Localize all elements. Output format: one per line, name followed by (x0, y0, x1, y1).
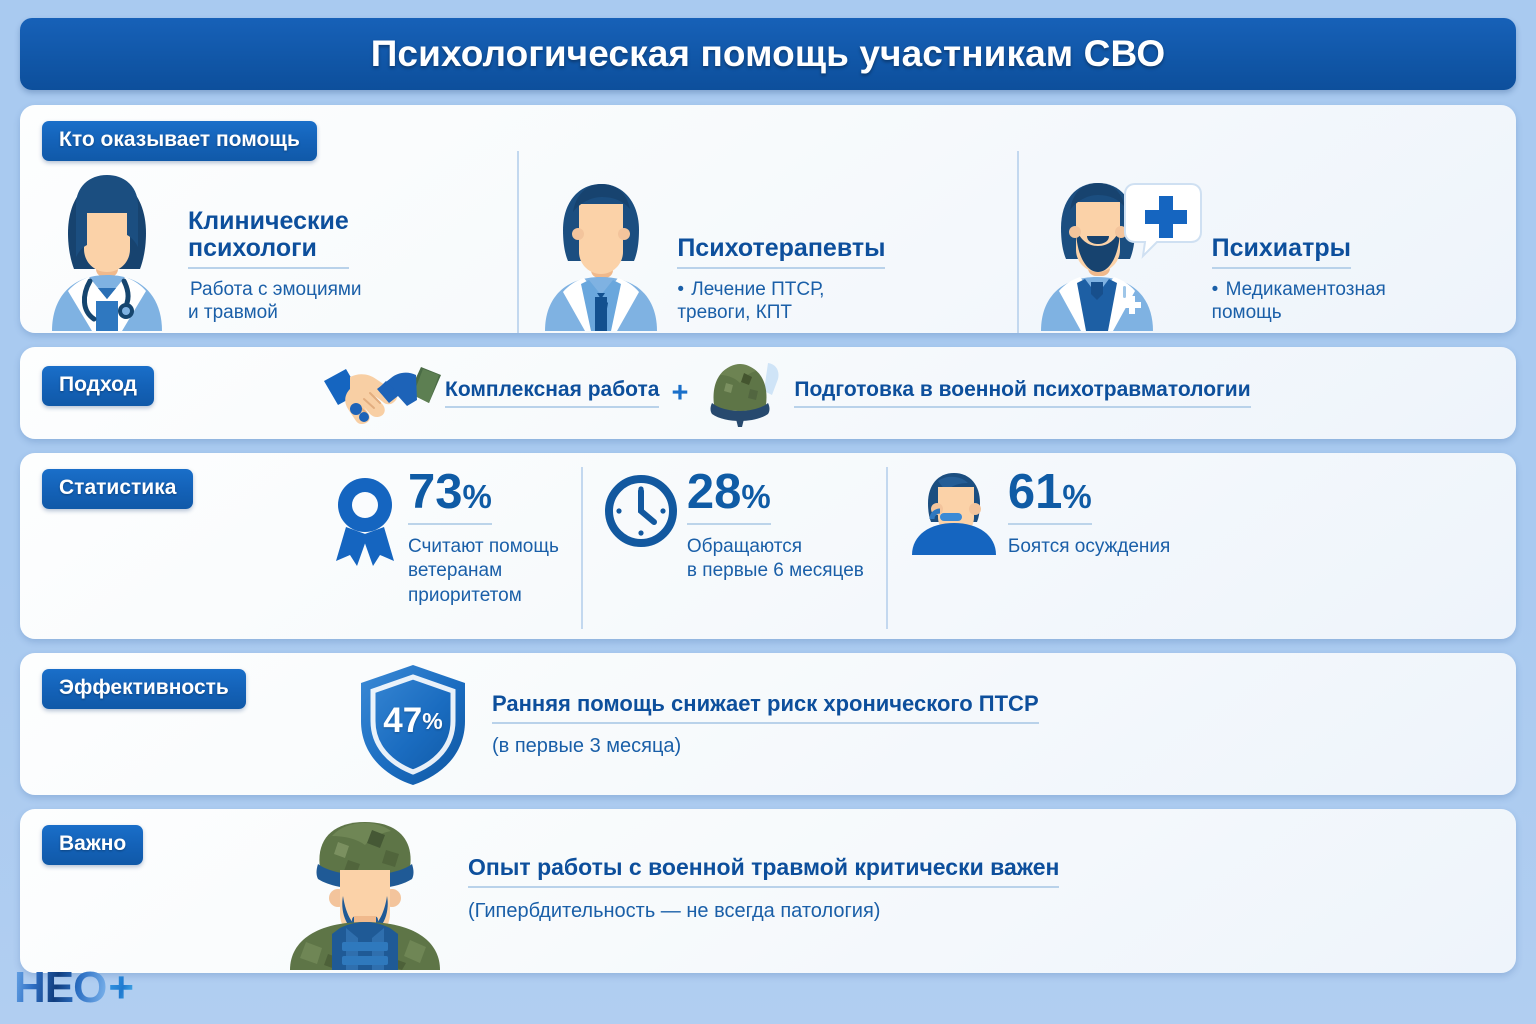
who-item-desc: • Медикаментозная помощь (1212, 278, 1386, 326)
clock-icon (605, 475, 677, 547)
who-item-text: Психотерапевты • Лечение ПТСР, тревоги, … (671, 235, 885, 332)
handshake-icon (320, 359, 445, 427)
stat-body: 61% Боятся осуждения (998, 467, 1170, 559)
award-ribbon-icon (332, 475, 398, 571)
stat-number: 28 (687, 465, 742, 519)
stat-value: 61% (1008, 469, 1092, 525)
bullet-glyph: • (677, 279, 684, 300)
bullet-glyph: • (1212, 279, 1219, 300)
who-item-title: Клинические психологи (188, 208, 349, 269)
who-item-psychotherapists: Психотерапевты • Лечение ПТСР, тревоги, … (517, 151, 1016, 333)
shield-icon: 47% (350, 661, 476, 787)
who-item-text: Психиатры • Медикаментозная помощь (1206, 235, 1386, 332)
badge-statistics: Статистика (42, 469, 193, 509)
brand-logo: НЕО + (14, 966, 133, 1010)
shield-percent-sign: % (422, 708, 442, 735)
person-headset-icon (910, 469, 998, 555)
effectiveness-title: Ранняя помощь снижает риск хронического … (492, 691, 1039, 724)
who-item-title: Психиатры (1212, 235, 1351, 269)
badge-effectiveness: Эффективность (42, 669, 246, 709)
stat-number: 73 (408, 465, 463, 519)
statistics-row: 73% Считают помощь ветеранам приоритетом (310, 467, 1500, 629)
approach-left-text: Комплексная работа (445, 378, 659, 408)
badge-important: Важно (42, 825, 143, 865)
percent-sign: % (1062, 478, 1091, 515)
who-item-desc-text: Медикаментозная помощь (1212, 279, 1386, 324)
important-subtitle: (Гипербдительность — не всегда патология… (468, 900, 1059, 923)
who-item-text: Клинические психологи Работа с эмоциями … (182, 208, 362, 332)
approach-right-text: Подготовка в военной психотравматологии (794, 378, 1250, 408)
percent-sign: % (741, 478, 770, 515)
shield-number: 47 (383, 701, 422, 741)
badge-who: Кто оказывает помощь (42, 121, 317, 161)
stat-value: 28% (687, 469, 771, 525)
who-item-title: Психотерапевты (677, 235, 885, 269)
effectiveness-text: Ранняя помощь снижает риск хронического … (476, 691, 1039, 758)
stat-label: Боятся осуждения (1008, 535, 1170, 560)
bearded-psychiatrist-icon (1031, 166, 1206, 331)
effectiveness-subtitle: (в первые 3 месяца) (492, 735, 1039, 758)
brand-logo-word: НЕО (14, 966, 106, 1010)
badge-approach: Подход (42, 366, 154, 406)
stat-item-first-6-months: 28% Обращаются в первые 6 месяцев (581, 467, 886, 629)
card-who-provides-help: Кто оказывает помощь (20, 105, 1516, 333)
plus-sign: + (671, 377, 688, 410)
card-effectiveness: Эффективность 47% Ранняя (20, 653, 1516, 795)
male-psychotherapist-icon (531, 166, 671, 331)
stat-item-fear-judgement: 61% Боятся осуждения (886, 467, 1192, 629)
stat-body: 28% Обращаются в первые 6 месяцев (677, 467, 864, 584)
stat-label: Обращаются в первые 6 месяцев (687, 535, 864, 584)
header-banner: Психологическая помощь участникам СВО (20, 18, 1516, 90)
percent-sign: % (463, 478, 492, 515)
shield-value: 47% (350, 661, 476, 787)
stat-item-priority: 73% Считают помощь ветеранам приоритетом (310, 467, 581, 629)
who-item-psychiatrists: Психиатры • Медикаментозная помощь (1017, 151, 1516, 333)
soldier-icon (280, 812, 450, 970)
important-text: Опыт работы с военной травмой критически… (450, 854, 1059, 929)
stat-label: Считают помощь ветеранам приоритетом (408, 535, 559, 609)
stat-value: 73% (408, 469, 492, 525)
effectiveness-row: 47% Ранняя помощь снижает риск хроническ… (350, 653, 1496, 795)
female-clinical-psychologist-icon (32, 161, 182, 331)
card-important: Важно (20, 809, 1516, 973)
card-statistics: Статистика 73% Считают помощь ветеранам … (20, 453, 1516, 639)
who-item-desc: • Лечение ПТСР, тревоги, КПТ (677, 278, 885, 326)
who-columns: Клинические психологи Работа с эмоциями … (20, 153, 1516, 333)
important-title: Опыт работы с военной травмой критически… (468, 854, 1059, 888)
approach-row: Комплексная работа + Подготовка в военно… (320, 347, 1496, 439)
stat-number: 61 (1008, 465, 1063, 519)
important-row: Опыт работы с военной травмой критически… (280, 809, 1496, 973)
stat-body: 73% Считают помощь ветеранам приоритетом (398, 467, 559, 609)
who-item-desc-text: Лечение ПТСР, тревоги, КПТ (677, 279, 824, 324)
who-item-desc-text: Работа с эмоциями и травмой (188, 279, 362, 324)
who-item-desc: Работа с эмоциями и травмой (188, 278, 362, 326)
card-approach: Подход Комплек (20, 347, 1516, 439)
who-item-clinical-psychologists: Клинические психологи Работа с эмоциями … (20, 151, 517, 333)
military-helmet-icon (700, 359, 786, 427)
brand-logo-plus: + (108, 966, 133, 1010)
infographic-page: Психологическая помощь участникам СВО Кт… (0, 0, 1536, 1024)
page-title: Психологическая помощь участникам СВО (371, 33, 1166, 75)
